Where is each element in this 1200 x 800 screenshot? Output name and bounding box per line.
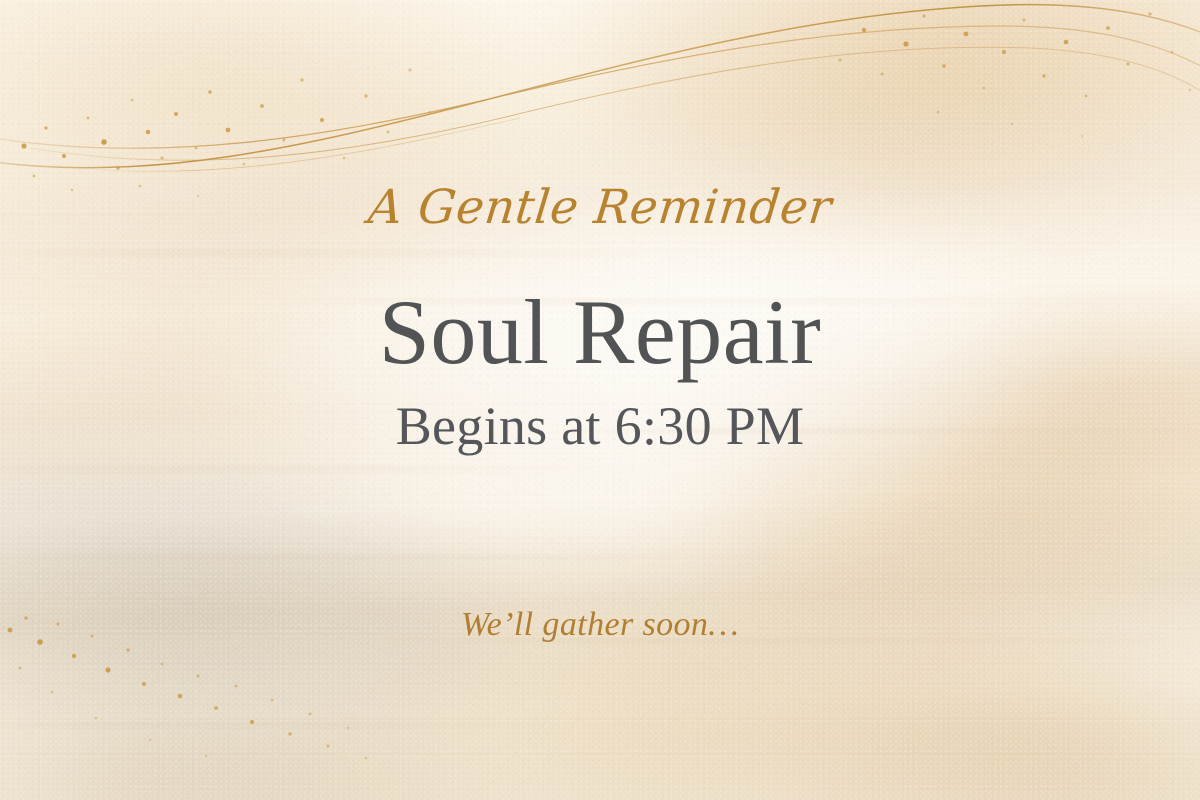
subtitle-time: Begins at 6:30 PM [0,398,1200,455]
closing-text: We’ll gather soon… [0,606,1200,643]
text-block: A Gentle Reminder Soul Repair Begins at … [0,0,1200,800]
eyebrow-text: A Gentle Reminder [0,183,1200,232]
page-title: Soul Repair [0,286,1200,378]
announcement-card: A Gentle Reminder Soul Repair Begins at … [0,0,1200,800]
